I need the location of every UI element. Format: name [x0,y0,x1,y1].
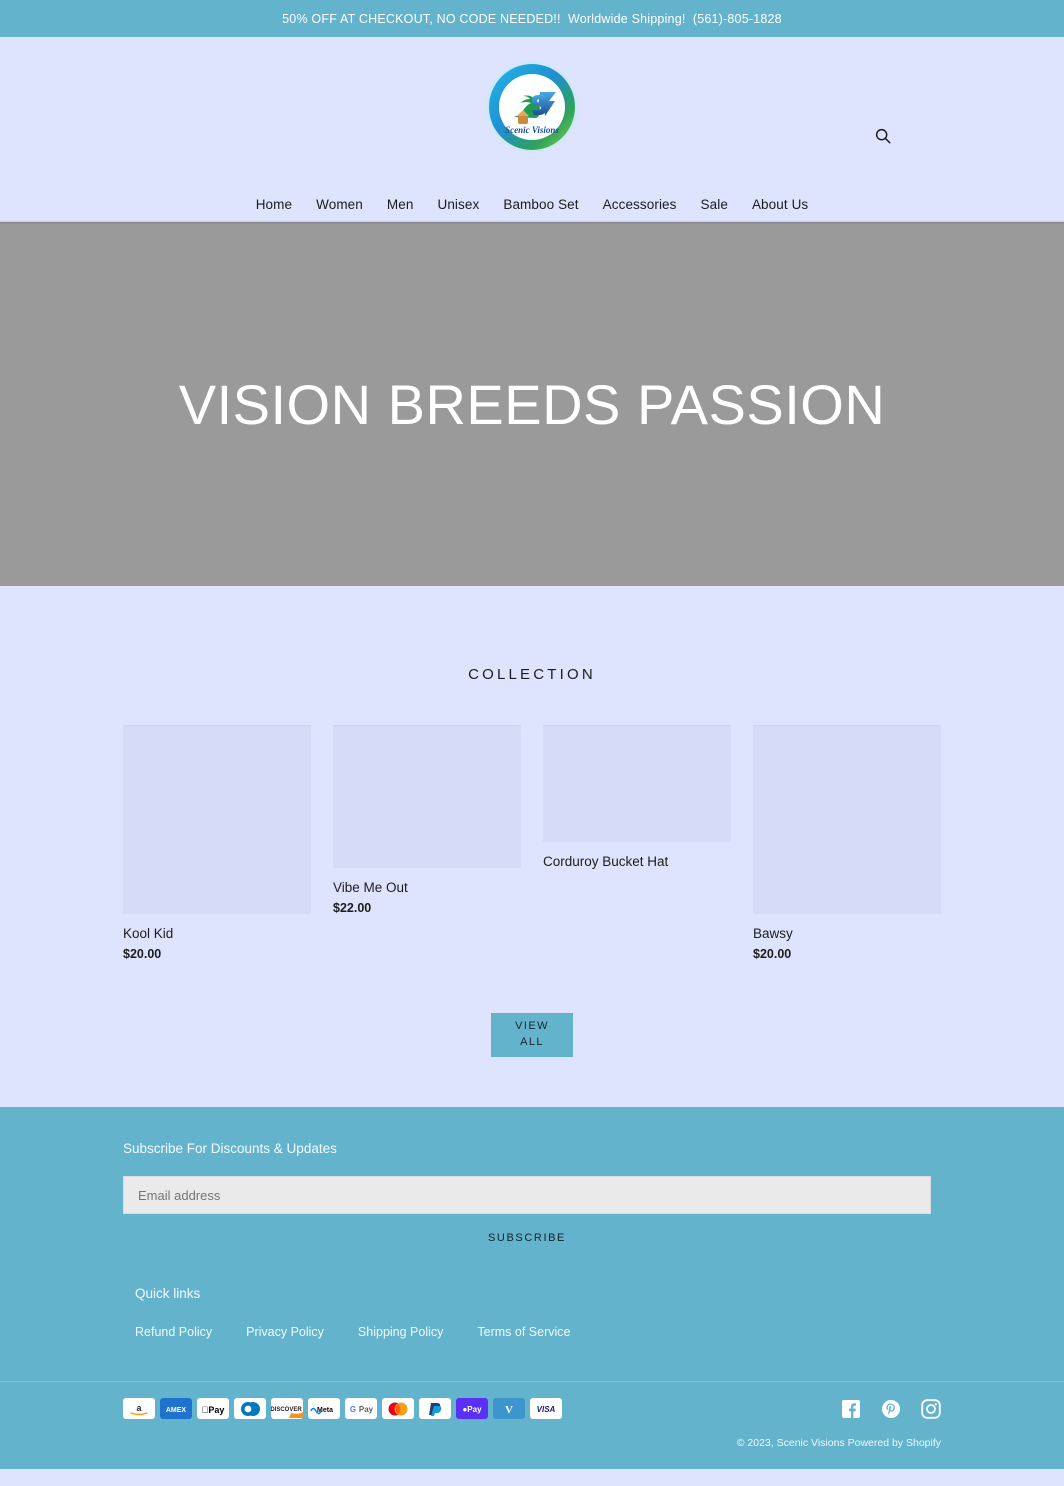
main-navigation: Home Women Men Unisex Bamboo Set Accesso… [0,197,1064,212]
nav-item-about-us[interactable]: About Us [740,197,820,212]
copyright-row: © 2023, Scenic Visions Powered by Shopif… [123,1433,941,1469]
product-card-vibe-me-out[interactable]: Vibe Me Out $22.00 [333,725,521,915]
product-price: $20.00 [123,947,311,961]
site-footer: Subscribe For Discounts & Updates SUBSCR… [0,1107,1064,1469]
site-logo[interactable]: Scenic Visions [484,59,580,155]
diners-club-icon [234,1398,266,1419]
email-input[interactable] [123,1176,931,1214]
footer-bottom: a AMEX Pay DISCOVER Meta [0,1381,1064,1469]
quick-link-refund-policy[interactable]: Refund Policy [135,1325,246,1339]
hero-title: VISION BREEDS PASSION [179,377,886,433]
product-price: $20.00 [753,947,941,961]
svg-text:V: V [505,1404,513,1416]
product-title: Bawsy [753,925,941,943]
svg-text:DISCOVER: DISCOVER [271,1407,302,1413]
subscribe-wrapper: SUBSCRIBE [123,1232,931,1244]
quick-link-shipping-policy[interactable]: Shipping Policy [358,1325,477,1339]
svg-text:G: G [350,1405,356,1414]
discover-icon: DISCOVER [271,1398,303,1419]
quick-link-privacy-policy[interactable]: Privacy Policy [246,1325,358,1339]
pinterest-icon [881,1399,901,1419]
footer-content: Subscribe For Discounts & Updates SUBSCR… [123,1141,941,1339]
product-title: Kool Kid [123,925,311,943]
product-grid: Kool Kid $20.00 Vibe Me Out $22.00 Cordu… [123,725,941,961]
instagram-link[interactable] [921,1399,941,1419]
search-icon [874,127,892,145]
page-root: 50% OFF AT CHECKOUT, NO CODE NEEDED!! Wo… [0,0,1064,1486]
meta-pay-icon: Meta [308,1398,340,1419]
facebook-icon [841,1399,861,1419]
product-title: Corduroy Bucket Hat [543,853,731,871]
collection-heading: COLLECTION [0,666,1064,683]
facebook-link[interactable] [841,1399,861,1419]
nav-item-sale[interactable]: Sale [689,197,740,212]
quick-links-heading: Quick links [135,1286,941,1301]
nav-item-women[interactable]: Women [304,197,375,212]
nav-item-accessories[interactable]: Accessories [591,197,689,212]
collection-section: COLLECTION Kool Kid $20.00 Vibe Me Out $… [0,586,1064,1107]
product-card-corduroy-bucket-hat[interactable]: Corduroy Bucket Hat [543,725,731,875]
circular-logo: Scenic Visions [484,59,580,155]
instagram-icon [921,1399,941,1419]
newsletter-heading: Subscribe For Discounts & Updates [123,1141,941,1156]
apple-pay-icon: Pay [197,1398,229,1419]
social-links [841,1399,941,1419]
product-image [123,725,311,914]
nav-item-bamboo-set[interactable]: Bamboo Set [491,197,590,212]
search-button[interactable] [868,121,898,151]
nav-item-men[interactable]: Men [375,197,426,212]
view-all-button[interactable]: VIEW ALL [491,1013,573,1057]
svg-text:AMEX: AMEX [166,1407,187,1414]
subscribe-button[interactable]: SUBSCRIBE [488,1232,566,1244]
product-image [543,725,731,842]
visa-icon: VISA [530,1398,562,1419]
american-express-icon: AMEX [160,1398,192,1419]
svg-text:Scenic Visions: Scenic Visions [505,125,559,135]
site-header: Scenic Visions Home Women Men Unisex Bam… [0,37,1064,222]
venmo-icon: V [493,1398,525,1419]
footer-bottom-inner: a AMEX Pay DISCOVER Meta [123,1398,941,1419]
hero-banner: VISION BREEDS PASSION [0,222,1064,586]
announcement-bar: 50% OFF AT CHECKOUT, NO CODE NEEDED!! Wo… [0,0,1064,37]
mastercard-icon [382,1398,414,1419]
product-price: $22.00 [333,901,521,915]
pinterest-link[interactable] [881,1399,901,1419]
google-pay-icon: GPay [345,1398,377,1419]
copyright-text: © 2023, Scenic Visions Powered by Shopif… [737,1437,941,1449]
svg-text:a: a [136,1403,142,1413]
product-card-bawsy[interactable]: Bawsy $20.00 [753,725,941,961]
quick-links-section: Quick links Refund Policy Privacy Policy… [123,1286,941,1339]
view-all-wrapper: VIEW ALL [0,1013,1064,1057]
svg-text:Pay: Pay [202,1405,225,1415]
product-title: Vibe Me Out [333,879,521,897]
product-card-kool-kid[interactable]: Kool Kid $20.00 [123,725,311,961]
amazon-pay-icon: a [123,1398,155,1419]
svg-text:●Pay: ●Pay [462,1405,482,1414]
announcement-text: 50% OFF AT CHECKOUT, NO CODE NEEDED!! Wo… [282,12,782,26]
payment-methods: a AMEX Pay DISCOVER Meta [123,1398,562,1419]
product-image [753,725,941,914]
quick-links-row: Refund Policy Privacy Policy Shipping Po… [135,1325,941,1339]
svg-text:VISA: VISA [537,1405,556,1414]
shop-pay-icon: ●Pay [456,1398,488,1419]
nav-item-home[interactable]: Home [244,197,304,212]
quick-link-terms-of-service[interactable]: Terms of Service [477,1325,604,1339]
product-image [333,725,521,868]
paypal-icon [419,1398,451,1419]
nav-item-unisex[interactable]: Unisex [425,197,491,212]
svg-text:Pay: Pay [359,1405,374,1414]
